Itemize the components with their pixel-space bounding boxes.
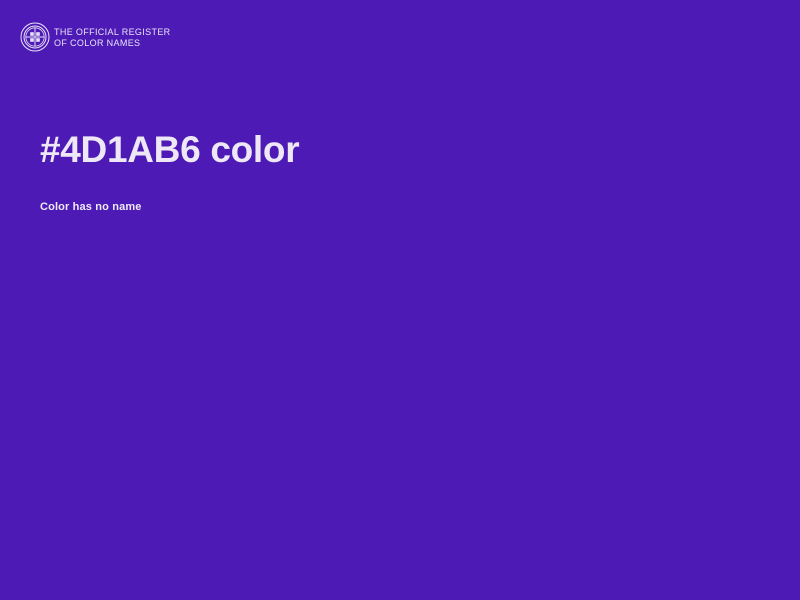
- color-name-status: Color has no name: [40, 172, 740, 215]
- brand-wordmark-line-1: THE OFFICIAL REGISTER: [54, 27, 171, 38]
- color-detail-block: #4D1AB6 color Color has no name: [40, 128, 740, 215]
- register-seal-icon: [20, 22, 50, 52]
- brand-wordmark: THE OFFICIAL REGISTER OF COLOR NAMES: [54, 26, 171, 48]
- brand-wordmark-line-2: OF COLOR NAMES: [54, 38, 171, 49]
- site-brand-lockup[interactable]: THE OFFICIAL REGISTER OF COLOR NAMES: [20, 22, 171, 52]
- page-title: #4D1AB6 color: [40, 128, 740, 172]
- color-page: THE OFFICIAL REGISTER OF COLOR NAMES #4D…: [0, 0, 800, 600]
- color-swatch-field: [0, 0, 800, 600]
